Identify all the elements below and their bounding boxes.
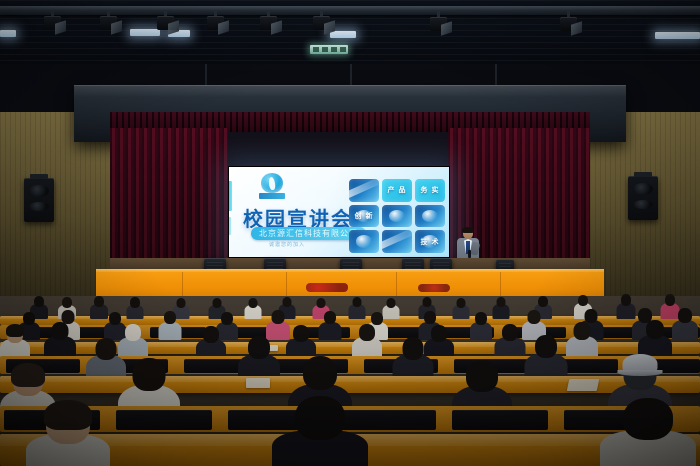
slide-tile: 创 新 [349,205,379,228]
slide-tile [349,230,379,253]
paper-sheet [567,379,600,391]
wall-speaker-left [24,178,54,222]
projection-screen: 校园宣讲会 北京源汇信科技有限公司 诚邀您的加入 产 品 务 实 创 新 技 术 [228,166,450,258]
audience-member [470,312,492,338]
audience-member [600,398,696,466]
slide-footer-note: 诚邀您的加入 [269,241,305,248]
audience-member [158,311,181,338]
slide-tile: 产 品 [382,179,412,202]
fluorescent-strip [130,29,160,36]
stage-spotlight [560,11,577,37]
audience-member [26,404,110,466]
stage-flower-arrangement [306,283,348,292]
audience-member [522,310,546,338]
seat-back [116,410,212,430]
audience-member [244,298,261,318]
audience-member [348,297,365,318]
slide-tile [349,179,379,202]
exit-sign [310,45,348,54]
slide-tile: 务 实 [415,179,445,202]
presentation-slide: 校园宣讲会 北京源汇信科技有限公司 诚邀您的加入 产 品 务 实 创 新 技 术 [229,167,449,257]
paper-sheet [246,378,270,388]
auditorium-photo: 校园宣讲会 北京源汇信科技有限公司 诚邀您的加入 产 品 务 实 创 新 技 术 [0,0,700,466]
stage-spotlight [313,10,330,36]
wall-speaker-right [628,176,658,220]
seat-back [452,410,548,430]
slide-tile [382,230,412,253]
audience-member [638,320,672,358]
company-logo-icon [259,173,285,199]
audience-member [352,324,382,358]
audience-member [494,324,525,358]
fluorescent-strip [0,30,16,37]
audience-member [286,325,316,358]
audience-member [672,308,698,338]
stage-spotlight [207,10,224,36]
audience-member [452,298,469,318]
fluorescent-strip [655,32,700,39]
stage-spotlight [260,10,277,36]
audience-member [492,297,509,318]
audience-member [126,297,143,318]
audience-member [524,335,567,382]
slide-tile: 技 术 [415,230,445,253]
stage-spotlight [100,10,117,36]
audience-member [318,311,341,338]
audience-member [44,322,76,358]
slide-tile [382,205,412,228]
stage-spotlight [430,11,447,37]
audience-member [272,396,368,466]
stage-spotlight [44,10,61,36]
slide-image-grid: 产 品 务 实 创 新 技 术 [349,179,445,253]
audience-member [0,326,30,358]
stage-flower-arrangement [418,284,450,292]
microphone-icon [468,250,471,258]
audience-member [196,326,226,358]
audience-member [566,322,598,358]
fluorescent-strip [330,31,356,38]
stage-spotlight [157,10,174,36]
slide-tile [415,205,445,228]
